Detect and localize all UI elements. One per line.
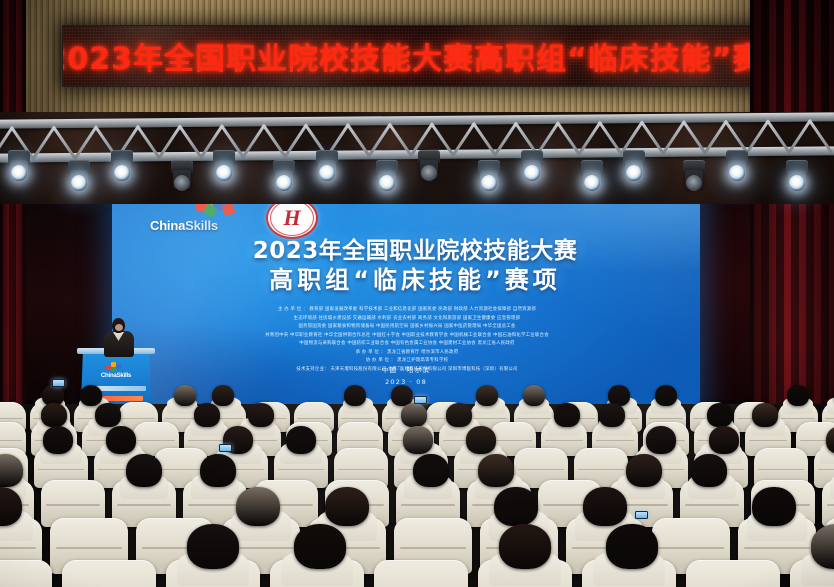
attendee-head: [655, 385, 677, 406]
attendee-phone: [219, 444, 232, 452]
light-lens: [114, 165, 130, 181]
attendee-head: [752, 403, 778, 427]
stage-light: [109, 150, 135, 180]
stage-light: [621, 150, 647, 180]
stage-light: [681, 160, 707, 190]
light-lens: [319, 165, 335, 181]
attendee-head: [707, 403, 733, 427]
stage-light: [169, 160, 195, 190]
attendee-phone: [635, 511, 648, 519]
main-presentation-screen: ChinaSkills H 2023年全国职业院校技能大赛 高职组“临床技能”赛…: [112, 188, 700, 412]
attendee-head: [43, 426, 73, 454]
attendee-head: [286, 426, 316, 454]
podium-logo-tile: [116, 364, 121, 369]
stage-light: [579, 160, 605, 190]
seat: [62, 560, 156, 587]
speaker-person: [102, 318, 136, 356]
seat: [0, 560, 52, 587]
stage-light: [211, 150, 237, 180]
attendee-head: [236, 487, 280, 526]
light-lens: [11, 165, 27, 181]
light-lens: [584, 175, 600, 191]
attendee-head: [401, 403, 427, 427]
light-lens: [174, 175, 190, 191]
stage-light: [476, 160, 502, 190]
audience-area: [0, 404, 834, 587]
podium-chinaskills-mark-icon: [106, 362, 122, 371]
attendee-head: [106, 426, 136, 454]
light-lens: [729, 165, 745, 181]
attendee-head: [476, 385, 498, 406]
attendee-phone: [414, 396, 427, 404]
attendee-head: [80, 385, 102, 406]
attendee-head: [646, 426, 676, 454]
stage-light: [784, 160, 810, 190]
attendee-head: [691, 454, 727, 487]
attendee-head: [709, 426, 739, 454]
attendee-shoulders: [827, 397, 834, 414]
podium-logo-text: ChinaSkills: [80, 373, 152, 379]
light-lens: [379, 175, 395, 191]
attendee-head: [752, 487, 796, 526]
attendee-head: [599, 403, 625, 427]
attendee-head: [95, 403, 121, 427]
attendee-head: [248, 403, 274, 427]
stage-light: [6, 150, 32, 180]
light-lens: [524, 165, 540, 181]
light-lens: [789, 175, 805, 191]
speaker-face: [115, 324, 123, 331]
screen-glare: [112, 188, 700, 412]
attendee-head: [126, 454, 162, 487]
attendee-head: [523, 385, 545, 406]
attendee-head: [325, 487, 369, 526]
auditorium-photo: 2023年全国职业院校技能大赛高职组“临床技能”赛项 ChinaSkills H: [0, 0, 834, 587]
seat: [374, 560, 468, 587]
attendee-head: [187, 524, 240, 569]
attendee-head: [583, 487, 627, 526]
attendee-head: [446, 403, 472, 427]
seat: [686, 560, 780, 587]
led-banner-text: 2023年全国职业院校技能大赛高职组“临床技能”赛项: [63, 26, 777, 86]
attendee-head: [41, 403, 67, 427]
stage-light: [271, 160, 297, 190]
attendee-head: [200, 454, 236, 487]
light-lens: [421, 165, 437, 181]
stage-light: [314, 150, 340, 180]
attendee-head: [413, 454, 449, 487]
attendee-head: [344, 385, 366, 406]
attendee-head: [494, 487, 538, 526]
led-banner: 2023年全国职业院校技能大赛高职组“临床技能”赛项: [62, 25, 778, 87]
attendee-head: [294, 524, 347, 569]
attendee-head: [554, 403, 580, 427]
stage-light: [374, 160, 400, 190]
attendee-head: [787, 385, 809, 406]
attendee-head: [478, 454, 514, 487]
lighting-truss: [0, 112, 834, 204]
attendee-head: [606, 524, 659, 569]
stage-light: [66, 160, 92, 190]
attendee-head: [499, 524, 552, 569]
attendee-head: [403, 426, 433, 454]
attendee-head: [212, 385, 234, 406]
light-lens: [626, 165, 642, 181]
attendee-head: [466, 426, 496, 454]
stage-light: [724, 150, 750, 180]
stage-light: [519, 150, 545, 180]
stage-light: [416, 150, 442, 180]
attendee-phone: [52, 379, 65, 387]
light-lens: [216, 165, 232, 181]
attendee-head: [626, 454, 662, 487]
attendee-head: [174, 385, 196, 406]
attendee-head: [194, 403, 220, 427]
